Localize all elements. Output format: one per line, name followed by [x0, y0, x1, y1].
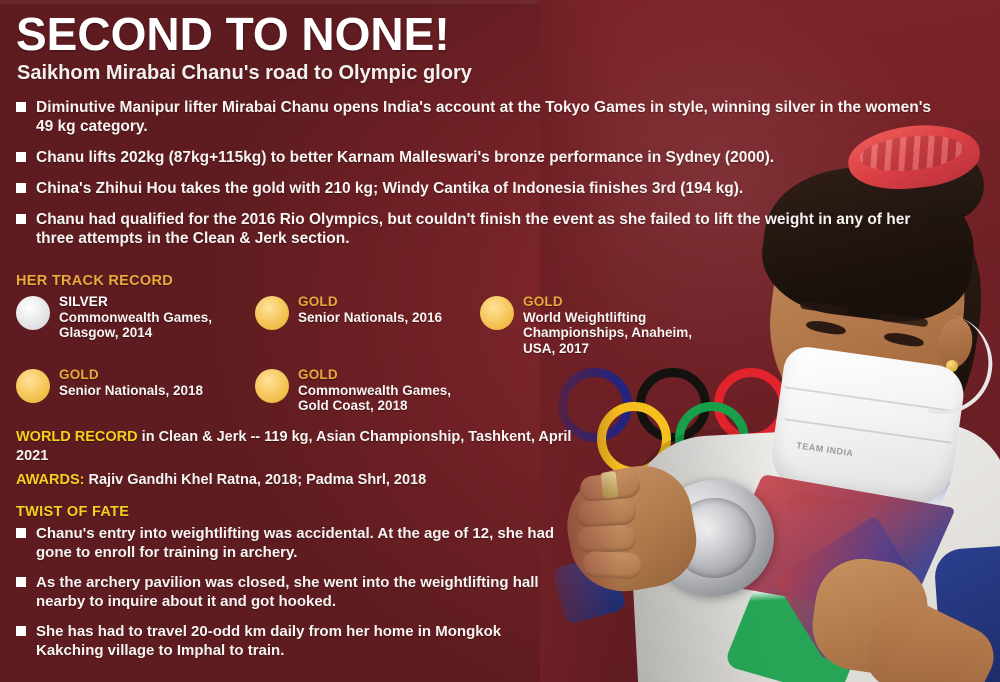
medal-label: GOLD: [59, 367, 203, 383]
medal-entry: GOLD Commonwealth Games, Gold Coast, 201…: [255, 367, 480, 414]
bullet-square-icon: [16, 102, 26, 112]
medal-label: GOLD: [298, 367, 480, 383]
page-subtitle: Saikhom Mirabai Chanu's road to Olympic …: [17, 60, 472, 86]
medal-label: SILVER: [59, 294, 254, 310]
gold-medal-icon: [16, 369, 50, 403]
awards-line: AWARDS: Rajiv Gandhi Khel Ratna, 2018; P…: [16, 471, 576, 490]
text-column: SECOND TO NONE! Saikhom Mirabai Chanu's …: [0, 0, 600, 682]
list-item: Diminutive Manipur lifter Mirabai Chanu …: [15, 98, 940, 136]
list-item-text: She has had to travel 20-odd km daily fr…: [36, 623, 501, 659]
silver-medal-icon: [16, 296, 50, 330]
list-item-text: China's Zhihui Hou takes the gold with 2…: [36, 180, 743, 197]
records-and-awards: WORLD RECORD in Clean & Jerk -- 119 kg, …: [16, 428, 576, 495]
list-item: China's Zhihui Hou takes the gold with 2…: [15, 179, 940, 198]
bullet-square-icon: [16, 577, 26, 587]
list-item-text: Chanu had qualified for the 2016 Rio Oly…: [36, 211, 910, 247]
medal-event: Commonwealth Games, Glasgow, 2014: [59, 310, 254, 341]
list-item-text: As the archery pavilion was closed, she …: [36, 574, 539, 610]
list-item-text: Chanu lifts 202kg (87kg+115kg) to better…: [36, 149, 774, 166]
section-title-track-record: HER TRACK RECORD: [16, 273, 173, 289]
section-title-twist-of-fate: TWIST OF FATE: [16, 504, 129, 520]
medal-label: GOLD: [298, 294, 442, 310]
gold-medal-icon: [255, 296, 289, 330]
bullet-square-icon: [16, 152, 26, 162]
bullet-square-icon: [16, 214, 26, 224]
page-title: SECOND TO NONE!: [16, 8, 450, 60]
infographic-poster: TEAM INDIA SECOND TO NONE! Saikhom Mirab…: [0, 0, 1000, 682]
awards-text: Rajiv Gandhi Khel Ratna, 2018; Padma Shr…: [84, 472, 426, 488]
list-item-text: Chanu's entry into weightlifting was acc…: [36, 525, 554, 561]
gold-medal-icon: [480, 296, 514, 330]
gold-medal-icon: [255, 369, 289, 403]
medal-event: World Weightlifting Championships, Anahe…: [523, 310, 715, 357]
list-item: She has had to travel 20-odd km daily fr…: [15, 622, 560, 660]
finger-ring: [601, 471, 619, 498]
medal-entry: GOLD Senior Nationals, 2018: [16, 367, 254, 403]
medal-entry: GOLD Senior Nationals, 2016: [255, 294, 480, 330]
list-item: Chanu had qualified for the 2016 Rio Oly…: [15, 210, 940, 248]
twist-bullet-list: Chanu's entry into weightlifting was acc…: [15, 524, 560, 671]
list-item: Chanu lifts 202kg (87kg+115kg) to better…: [15, 148, 940, 167]
medal-event: Senior Nationals, 2016: [298, 310, 442, 326]
list-item: As the archery pavilion was closed, she …: [15, 573, 560, 611]
list-item: Chanu's entry into weightlifting was acc…: [15, 524, 560, 562]
bullet-square-icon: [16, 626, 26, 636]
medal-event: Senior Nationals, 2018: [59, 383, 203, 399]
bullet-square-icon: [16, 528, 26, 538]
world-record-line: WORLD RECORD in Clean & Jerk -- 119 kg, …: [16, 428, 576, 466]
medal-event: Commonwealth Games, Gold Coast, 2018: [298, 383, 480, 414]
medal-entry: GOLD World Weightlifting Championships, …: [480, 294, 715, 356]
intro-bullet-list: Diminutive Manipur lifter Mirabai Chanu …: [15, 98, 940, 260]
bullet-square-icon: [16, 183, 26, 193]
medal-label: GOLD: [523, 294, 715, 310]
medal-entry: SILVER Commonwealth Games, Glasgow, 2014: [16, 294, 254, 341]
list-item-text: Diminutive Manipur lifter Mirabai Chanu …: [36, 99, 931, 135]
awards-label: AWARDS:: [16, 472, 84, 488]
world-record-label: WORLD RECORD: [16, 429, 138, 445]
